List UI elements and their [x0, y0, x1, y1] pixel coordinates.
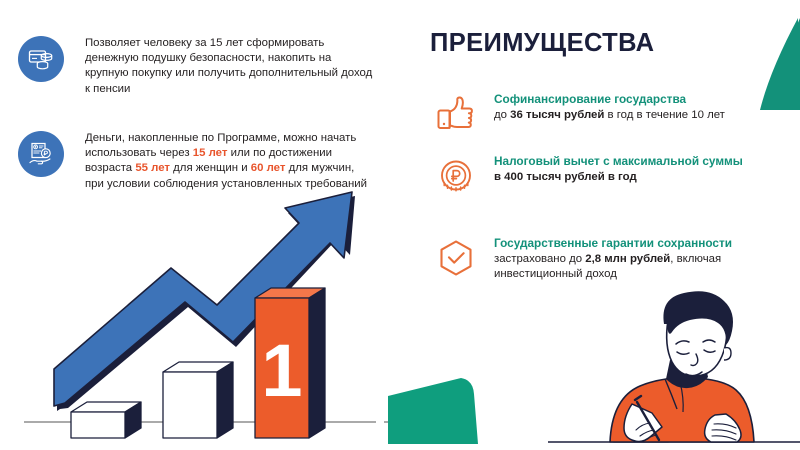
info-block-withdrawal-text: Деньги, накопленные по Программе, можно …: [85, 131, 375, 192]
benefit-subtext: до 36 тысяч рублей в год в течение 10 ле…: [494, 108, 725, 123]
benefit-heading: Софинансирование государства: [494, 92, 725, 107]
benefit-subtext: в 400 тысяч рублей в год: [494, 170, 743, 185]
card-coins-icon: [18, 36, 64, 82]
chart-bar-1: [71, 402, 141, 438]
benefit-item-tax-deduction: Налоговый вычет с максимальной суммы в 4…: [432, 152, 743, 200]
info-block-withdrawal: Деньги, накопленные по Программе, можно …: [18, 131, 375, 192]
benefit-item-cofinancing: Софинансирование государства до 36 тысяч…: [432, 90, 725, 138]
infographic-canvas: 1 Позволяет человеку за 15 лет сформиров…: [0, 0, 800, 450]
growth-bar-chart: 1: [24, 150, 414, 440]
chart-bar-3-label: 1: [261, 329, 302, 412]
hexagon-check-icon: [432, 234, 480, 282]
document-ruble-hand-icon: [18, 131, 64, 177]
benefit-item-state-guarantee: Государственные гарантии сохранности зас…: [432, 234, 800, 282]
highlight-55-years: 55 лет: [135, 162, 170, 174]
man-writing-illustration: [548, 282, 800, 450]
page-title: ПРЕИМУЩЕСТВА: [430, 29, 655, 58]
chart-bar-2: [163, 362, 233, 438]
green-block-shape: [385, 378, 480, 444]
benefit-subtext: застраховано до 2,8 млн рублей, включая …: [494, 252, 800, 282]
ruble-coin-icon: [432, 152, 480, 200]
info-block-savings: Позволяет человеку за 15 лет сформироват…: [18, 36, 375, 97]
highlight-15-years: 15 лет: [193, 147, 228, 159]
benefit-heading: Налоговый вычет с максимальной суммы: [494, 154, 743, 169]
highlight-60-years: 60 лет: [251, 162, 286, 174]
green-wedge-shape: [740, 18, 800, 110]
thumbs-up-icon: [432, 90, 480, 138]
chart-bar-3-highlight: 1: [255, 288, 325, 438]
benefit-heading: Государственные гарантии сохранности: [494, 236, 800, 251]
info-block-savings-text: Позволяет человеку за 15 лет сформироват…: [85, 36, 375, 97]
